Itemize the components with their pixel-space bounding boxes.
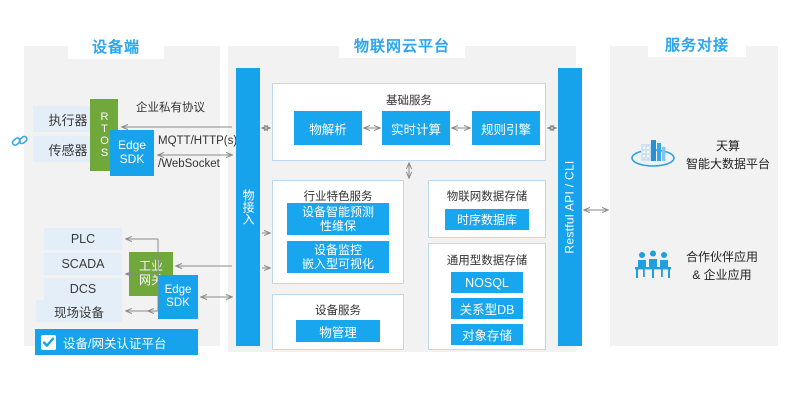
industrial-item-dcs-label: DCS	[70, 282, 96, 296]
storage-item-object-storage: 对象存储	[451, 324, 523, 345]
device-service-item-thing-management: 物管理	[296, 320, 380, 342]
storage-item-timeseries-db: 时序数据库	[445, 209, 529, 230]
check-mark-icon	[41, 335, 56, 350]
partners-meeting-icon	[630, 248, 676, 285]
thing-access-label: 物接入	[240, 189, 256, 225]
service-realtime-compute: 实时计算	[382, 111, 450, 145]
service-realtime-compute-label: 实时计算	[391, 119, 441, 138]
edge-sdk-gateway-line1: Edge	[165, 284, 192, 297]
cloud-platform-title: 物联网云平台	[339, 32, 465, 58]
storage-item-relational-db-label: 关系型DB	[460, 299, 515, 318]
protocol-label-private: 企业私有协议	[136, 99, 205, 115]
service-rule-engine-label: 规则引擎	[481, 119, 531, 138]
service-item-partner-apps-line1: 合作伙伴应用	[686, 249, 758, 266]
service-rule-engine: 规则引擎	[472, 111, 540, 145]
industrial-item-plc-label: PLC	[71, 232, 95, 246]
industry-item-device-monitoring-line1: 设备监控	[314, 243, 362, 257]
bigdata-building-icon	[630, 136, 676, 175]
industrial-item-dcs: DCS	[44, 278, 122, 300]
edge-sdk-gateway-block: Edge SDK	[158, 275, 198, 319]
industrial-item-field-device-label: 现场设备	[54, 302, 104, 321]
architecture-diagram: 设备端 物联网云平台 服务对接 执行器 传感器 RTOS Edge SDK 企业…	[0, 0, 802, 411]
industrial-item-scada-label: SCADA	[61, 257, 104, 271]
industrial-item-scada: SCADA	[44, 253, 122, 275]
basic-service-title: 基础服务	[273, 92, 545, 108]
service-item-partner-apps: 合作伙伴应用 & 企业应用	[630, 248, 758, 285]
protocol-label-websocket: /WebSocket	[158, 158, 220, 170]
industry-service-title: 行业特色服务	[273, 188, 403, 204]
industry-item-predictive-maintenance-line1: 设备智能预测	[302, 205, 374, 219]
restful-api-cli-label: Restful API / CLI	[563, 160, 577, 253]
service-item-tiansuan-text: 天算 智能大数据平台	[686, 138, 770, 173]
storage-item-relational-db: 关系型DB	[451, 298, 523, 319]
industry-item-predictive-maintenance-line2: 性维保	[320, 219, 356, 233]
device-service-item-thing-management-label: 物管理	[319, 322, 357, 341]
device-service-title: 设备服务	[273, 302, 403, 318]
industry-item-device-monitoring: 设备监控 嵌入型可视化	[287, 241, 389, 273]
industrial-gateway-line1: 工业	[139, 260, 163, 274]
industry-item-predictive-maintenance: 设备智能预测 性维保	[287, 203, 389, 235]
iot-data-storage-title: 物联网数据存储	[429, 188, 545, 204]
auth-platform-bar: 设备/网关认证平台	[35, 329, 198, 355]
thing-access-bar: 物接入	[236, 68, 260, 346]
service-thing-parsing-label: 物解析	[309, 119, 347, 138]
service-side-title: 服务对接	[648, 31, 746, 57]
service-item-partner-apps-text: 合作伙伴应用 & 企业应用	[686, 249, 758, 284]
device-side-title: 设备端	[68, 33, 164, 59]
edge-sdk-device-block: Edge SDK	[110, 130, 154, 176]
industrial-item-plc: PLC	[44, 228, 122, 250]
edge-sdk-device-line2: SDK	[120, 153, 145, 167]
restful-api-cli-bar: Restful API / CLI	[558, 68, 582, 346]
service-item-tiansuan-line2: 智能大数据平台	[686, 156, 770, 173]
industry-item-device-monitoring-line2: 嵌入型可视化	[302, 257, 374, 271]
rtos-label: RTOS	[99, 111, 110, 159]
edge-sdk-device-line1: Edge	[118, 139, 146, 153]
service-item-tiansuan: 天算 智能大数据平台	[630, 136, 770, 175]
endpoint-sensor-label: 传感器	[48, 140, 87, 159]
storage-item-nosql-label: NOSQL	[465, 276, 509, 290]
storage-item-timeseries-db-label: 时序数据库	[457, 211, 517, 228]
general-data-storage-title: 通用型数据存储	[429, 252, 545, 268]
industrial-item-field-device: 现场设备	[36, 300, 122, 322]
service-side-panel	[610, 46, 778, 346]
service-item-partner-apps-line2: & 企业应用	[686, 267, 758, 284]
storage-item-object-storage-label: 对象存储	[462, 325, 512, 344]
service-item-tiansuan-line1: 天算	[686, 138, 770, 155]
auth-platform-label: 设备/网关认证平台	[63, 333, 166, 352]
storage-item-nosql: NOSQL	[451, 272, 523, 293]
service-thing-parsing: 物解析	[294, 111, 362, 145]
link-chain-icon	[9, 130, 31, 152]
protocol-label-mqtt: MQTT/HTTP(s)	[158, 135, 237, 147]
edge-sdk-gateway-line2: SDK	[166, 297, 190, 310]
endpoint-actuator-label: 执行器	[48, 110, 87, 129]
